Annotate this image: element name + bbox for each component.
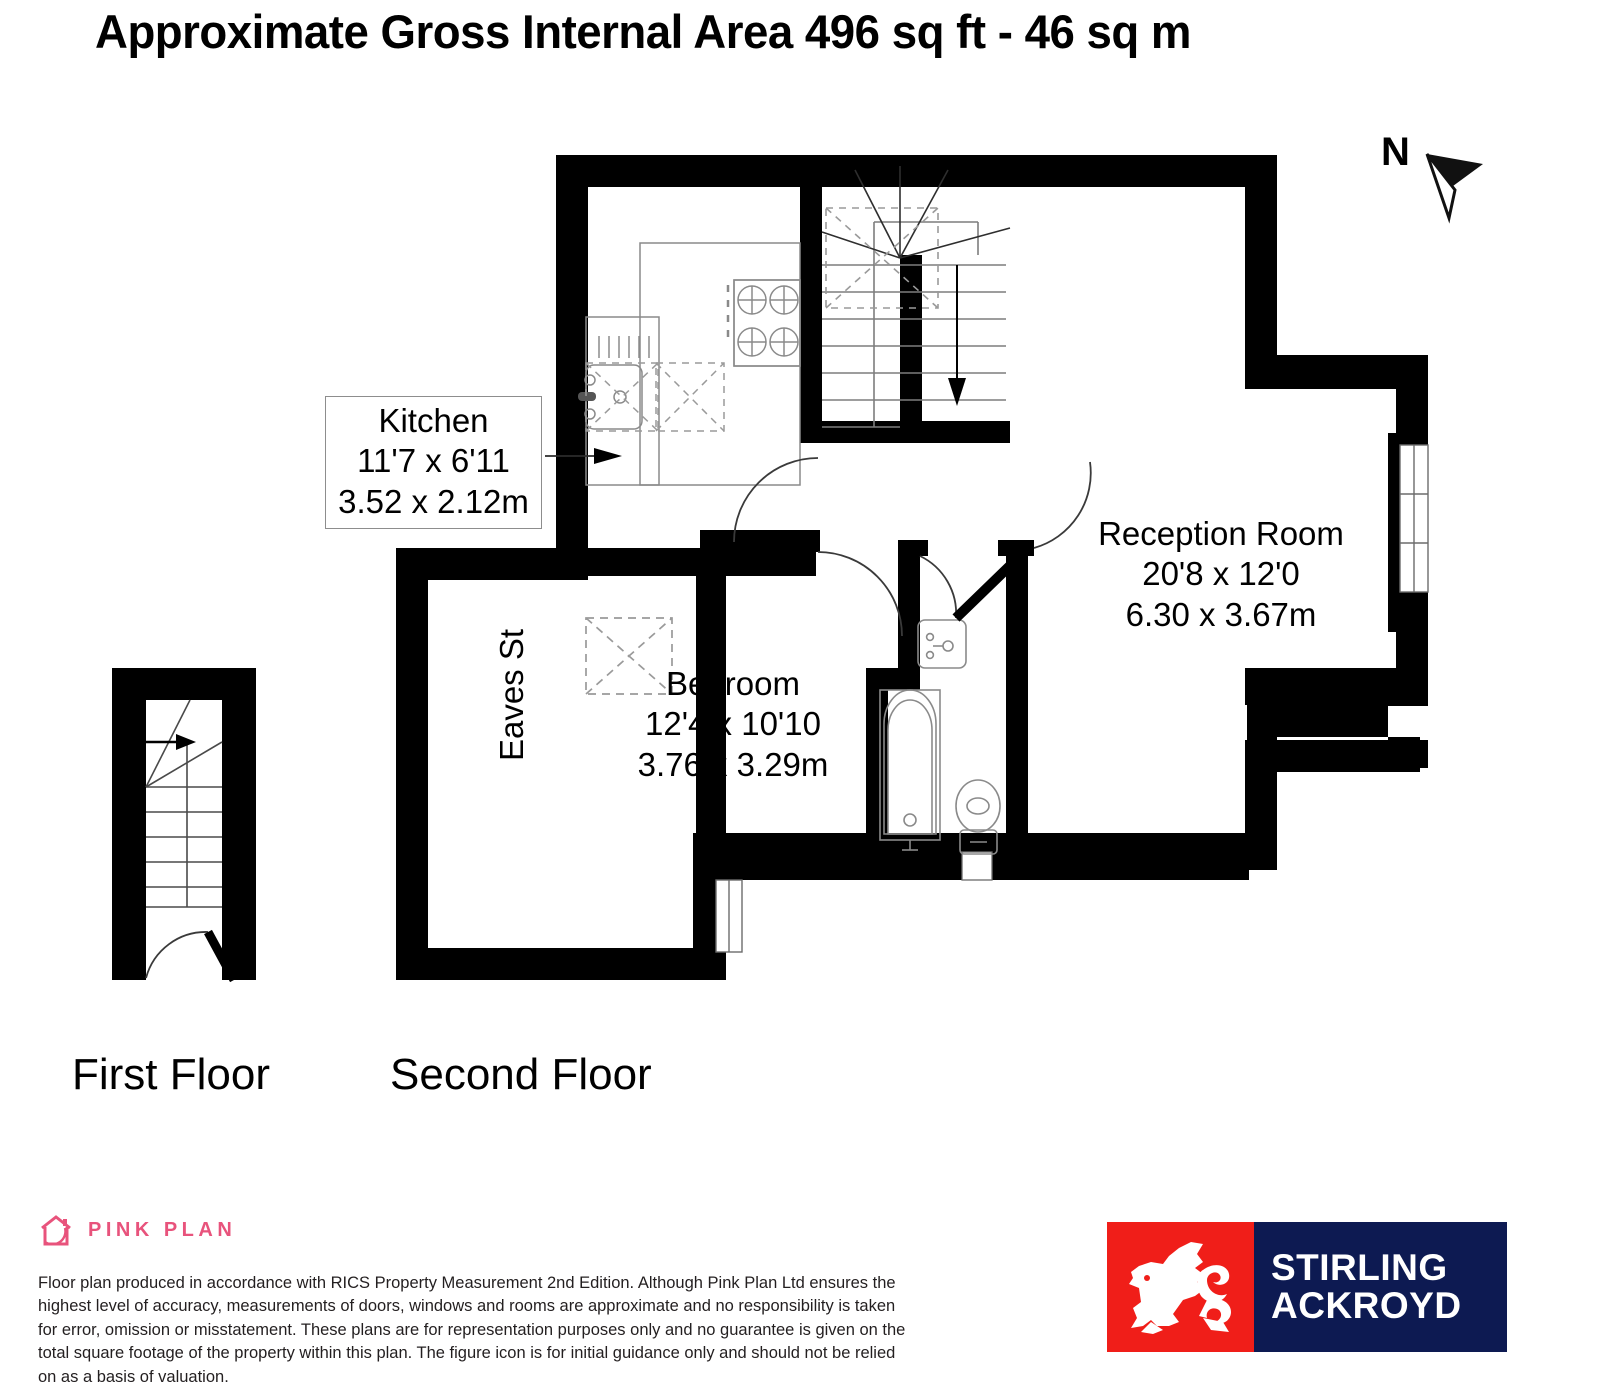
reception-dim-imperial: 20'8 x 12'0 xyxy=(1090,554,1352,594)
floor-caption-second: Second Floor xyxy=(390,1050,652,1100)
sink-drainer-icon xyxy=(599,336,649,358)
room-label-bedroom: Bedroom 12'4 x 10'10 3.76 x 3.29m xyxy=(614,664,852,785)
north-label: N xyxy=(1381,130,1410,175)
first-floor-plan xyxy=(112,668,256,980)
griffin-icon xyxy=(1107,1222,1254,1352)
floor-caption-first: First Floor xyxy=(72,1050,270,1100)
pink-plan-wordmark: PINK PLAN xyxy=(88,1219,236,1242)
door-bathroom xyxy=(920,556,956,618)
first-floor-door xyxy=(146,932,234,980)
bedroom-name: Bedroom xyxy=(614,664,852,704)
agency-name-line1: STIRLING xyxy=(1271,1249,1507,1287)
first-floor-walls xyxy=(112,668,256,980)
agency-logo: STIRLING ACKROYD xyxy=(1107,1222,1507,1352)
reception-dim-metric: 6.30 x 3.67m xyxy=(1090,595,1352,635)
door-bedroom xyxy=(818,552,902,636)
room-label-eaves-storage: Eaves St xyxy=(493,615,531,775)
bedroom-dim-imperial: 12'4 x 10'10 xyxy=(614,704,852,744)
door-kitchen xyxy=(734,458,818,542)
agency-logo-mark xyxy=(1107,1222,1254,1352)
bedroom-dim-metric: 3.76 x 3.29m xyxy=(614,745,852,785)
agency-logo-wordmark: STIRLING ACKROYD xyxy=(1254,1222,1507,1352)
stairs-down-arrow-icon xyxy=(948,265,966,406)
window-bathroom-bottom xyxy=(962,852,992,880)
room-label-kitchen: Kitchen 11'7 x 6'11 3.52 x 2.12m xyxy=(325,396,542,529)
kitchen-name: Kitchen xyxy=(326,401,541,441)
first-floor-stairs xyxy=(146,700,222,907)
pink-plan-logo: PINK PLAN xyxy=(38,1212,236,1248)
north-arrow-icon xyxy=(1425,152,1505,232)
room-label-reception-room: Reception Room 20'8 x 12'0 6.30 x 3.67m xyxy=(1090,514,1352,635)
disclaimer-text: Floor plan produced in accordance with R… xyxy=(38,1272,908,1389)
window-bedroom-right xyxy=(716,880,742,952)
kitchen-dim-metric: 3.52 x 2.12m xyxy=(326,482,541,522)
basin-icon xyxy=(918,620,966,668)
house-outline-icon xyxy=(38,1212,74,1248)
kitchen-dim-imperial: 11'7 x 6'11 xyxy=(326,441,541,481)
bath-icon xyxy=(880,690,940,850)
dashed-appliance-hatch xyxy=(586,363,724,431)
agency-name-line2: ACKROYD xyxy=(1271,1287,1507,1325)
window-right-reception xyxy=(1400,445,1428,592)
hob-icon xyxy=(728,280,800,366)
reception-name: Reception Room xyxy=(1090,514,1352,554)
